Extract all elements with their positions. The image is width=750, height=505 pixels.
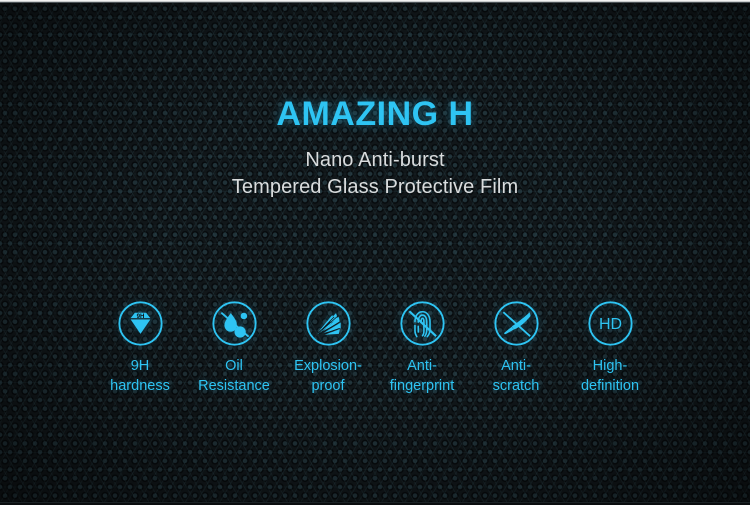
feature-item-explosion-proof: Explosion- proof (281, 300, 375, 396)
hd-circle-icon: HD (587, 300, 634, 347)
banner-title: AMAZING H (0, 93, 750, 135)
diamond-icon-text: 9H (136, 313, 144, 320)
diamond-9h-icon: 9H (117, 300, 164, 347)
feature-item-high-definition: HD High- definition (563, 300, 657, 396)
feature-label-high-definition: High- definition (581, 356, 639, 396)
oil-droplet-icon (211, 300, 258, 347)
feature-item-oil-resistance: Oil Resistance (187, 300, 281, 396)
feature-item-anti-scratch: Anti- scratch (469, 300, 563, 396)
feature-item-anti-fingerprint: Anti- fingerprint (375, 300, 469, 396)
feature-label-anti-scratch: Anti- scratch (493, 356, 540, 396)
feature-list: 9H 9H hardness Oil Resistance (93, 300, 657, 396)
banner-subtitle-line-1: Nano Anti-burst (0, 147, 750, 174)
feature-item-9h-hardness: 9H 9H hardness (93, 300, 187, 396)
feature-label-explosion-proof: Explosion- proof (294, 356, 362, 396)
feature-label-oil-resistance: Oil Resistance (198, 356, 270, 396)
fingerprint-blocked-icon (399, 300, 446, 347)
feature-label-9h-hardness: 9H hardness (110, 356, 170, 396)
knife-blocked-icon (493, 300, 540, 347)
banner-subtitle-line-2: Tempered Glass Protective Film (0, 174, 750, 201)
feature-label-anti-fingerprint: Anti- fingerprint (390, 356, 454, 396)
hd-icon-text: HD (598, 316, 621, 333)
shattered-glass-icon (305, 300, 352, 347)
banner-content: AMAZING H Nano Anti-burst Tempered Glass… (0, 0, 750, 505)
headline-block: AMAZING H Nano Anti-burst Tempered Glass… (0, 93, 750, 201)
product-feature-banner: AMAZING H Nano Anti-burst Tempered Glass… (0, 0, 750, 505)
